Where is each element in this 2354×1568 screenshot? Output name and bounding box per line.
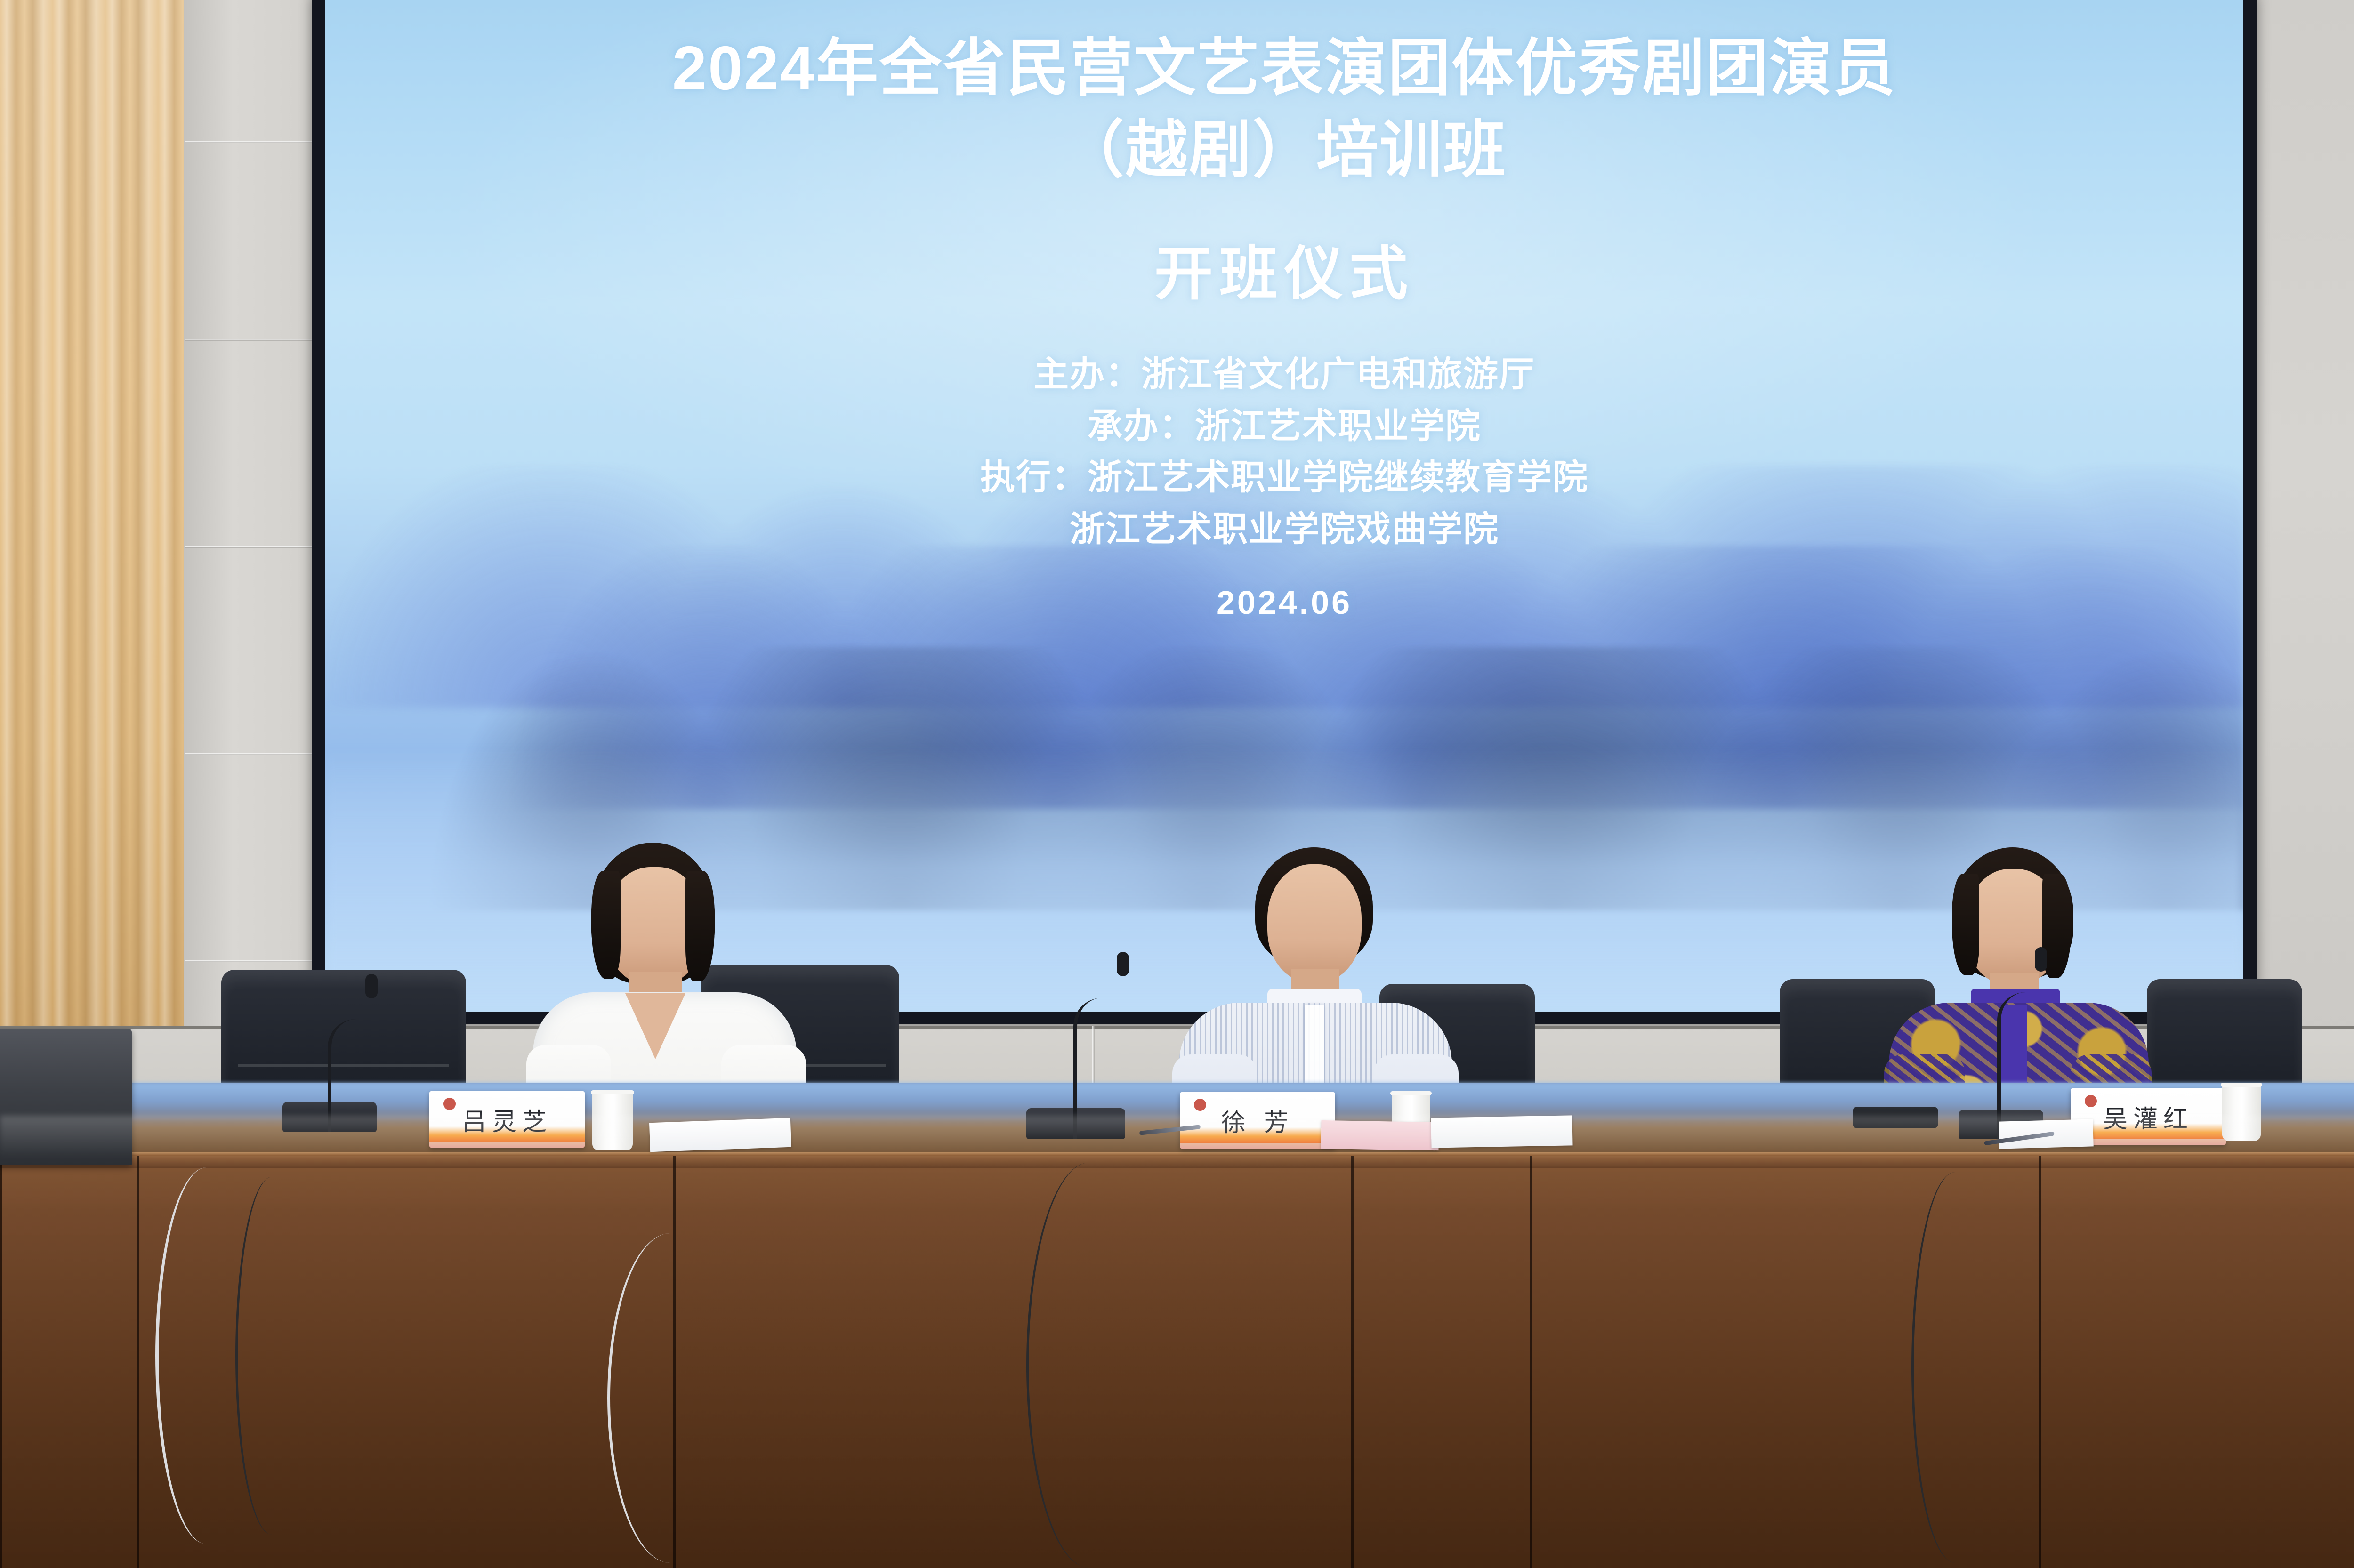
seal-icon: [443, 1098, 456, 1110]
cable-dark-2: [1026, 1163, 1151, 1568]
microphone-right[interactable]: [1959, 951, 2067, 1139]
slide-title: 2024年全省民营文艺表演团体优秀剧团演员 （越剧）培训班: [325, 27, 2243, 191]
slide-title-line1: 2024年全省民营文艺表演团体优秀剧团演员: [325, 27, 2243, 109]
organizer-line-executor: 执行：浙江艺术职业学院继续教育学院: [325, 451, 2243, 503]
microphone-center[interactable]: [1026, 956, 1149, 1139]
hair-side-right: [685, 871, 715, 981]
slide-organizers: 主办：浙江省文化广电和旅游厅 承办：浙江艺术职业学院 执行：浙江艺术职业学院继续…: [325, 348, 2243, 555]
slide-ceremony-heading: 开班仪式: [325, 226, 2243, 311]
microphone-left[interactable]: [282, 977, 405, 1132]
table-reflection: [0, 1116, 2354, 1158]
slide-title-line2: （越剧）培训班: [325, 109, 2243, 191]
cable-dark-1: [235, 1177, 308, 1535]
organizer-line-host: 主办：浙江省文化广电和旅游厅: [325, 348, 2243, 400]
wall-panel-column-left: [184, 0, 325, 1083]
hair-side-left: [591, 871, 621, 979]
neckline: [625, 993, 685, 1059]
organizer-line-organizer: 承办：浙江艺术职业学院: [325, 400, 2243, 452]
curtain-left: [0, 0, 184, 1069]
head: [1267, 864, 1362, 982]
seal-icon: [2085, 1095, 2097, 1107]
seal-icon: [1194, 1099, 1206, 1111]
organizer-line-executor2: 浙江艺术职业学院戏曲学院: [325, 503, 2243, 555]
dais-table-front: [0, 1156, 2354, 1568]
slide-date: 2024.06: [325, 584, 2243, 621]
cable-dark-3: [1911, 1172, 1999, 1563]
cable-white-2: [607, 1233, 733, 1563]
conference-room-photo: 2024年全省民营文艺表演团体优秀剧团演员 （越剧）培训班 开班仪式 主办：浙江…: [0, 0, 2354, 1568]
